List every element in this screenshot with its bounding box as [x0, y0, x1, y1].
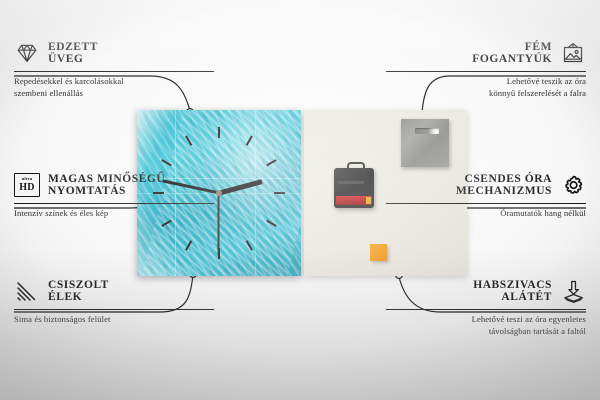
feature-title-line1: HABSZIVACS	[473, 279, 552, 291]
feature-desc-line1: Sima és biztonságos felület	[14, 314, 214, 326]
clock-tick	[218, 127, 220, 193]
badge-big-text: HD	[19, 183, 34, 193]
feature-title-line1: EDZETT	[48, 41, 98, 53]
diagonal-lines-icon	[14, 278, 40, 304]
feature-header: CSENDES ÓRA MECHANIZMUS	[386, 172, 586, 198]
divider	[14, 203, 214, 204]
mechanism-hanging-loop	[347, 162, 365, 173]
feature-foam-pad: HABSZIVACS ALÁTÉT Lehetővé teszi az óra …	[386, 278, 586, 337]
ultra-hd-badge: ultra HD	[14, 173, 40, 197]
ultra-hd-icon: ultra HD	[14, 172, 40, 198]
divider	[14, 309, 214, 310]
feature-silent-mechanism: CSENDES ÓRA MECHANIZMUS Óramutatók hang …	[386, 172, 586, 220]
diamond-icon	[14, 40, 40, 66]
feature-title-line2: FOGANTYÚK	[472, 53, 552, 65]
feature-high-quality-print: ultra HD MAGAS MINŐSÉGŰ NYOMTATÁS Intenz…	[14, 172, 214, 220]
feature-title: MAGAS MINŐSÉGŰ NYOMTATÁS	[48, 173, 165, 197]
divider	[386, 309, 586, 310]
feature-desc-line2: távolságban tartását a faltól	[386, 326, 586, 338]
feature-header: EDZETT ÜVEG	[14, 40, 214, 66]
feature-desc-line1: Lehetővé teszik az óra	[386, 76, 586, 88]
feature-desc-line2: szembeni ellenállás	[14, 88, 214, 100]
feature-desc-line1: Intenzív színek és éles kép	[14, 208, 214, 220]
battery	[336, 196, 372, 205]
feature-title-line2: MECHANIZMUS	[456, 185, 552, 197]
feature-description: Repedésekkel és karcolásokkal szembeni e…	[14, 76, 214, 99]
feature-desc-line2: könnyű felszerelését a falra	[386, 88, 586, 100]
feature-metal-handles: FÉM FOGANTYÚK Lehetővé teszik az óra kön…	[386, 40, 586, 99]
feature-title-line1: MAGAS MINŐSÉGŰ	[48, 173, 165, 185]
feature-header: HABSZIVACS ALÁTÉT	[386, 278, 586, 304]
feature-title: CSENDES ÓRA MECHANIZMUS	[456, 173, 552, 197]
feature-description: Lehetővé teszi az óra egyenletes távolsá…	[386, 314, 586, 337]
feature-header: CSISZOLT ÉLEK	[14, 278, 214, 304]
clock-mechanism-box	[334, 168, 374, 208]
clock-center-hub	[216, 190, 222, 196]
divider	[14, 71, 214, 72]
feature-title: HABSZIVACS ALÁTÉT	[473, 279, 552, 303]
divider	[386, 203, 586, 204]
feature-title-line2: NYOMTATÁS	[48, 185, 165, 197]
feature-title: FÉM FOGANTYÚK	[472, 41, 552, 65]
mechanism-ridge	[338, 181, 364, 184]
feature-title-line2: ALÁTÉT	[473, 291, 552, 303]
feature-title-line2: ÉLEK	[48, 291, 109, 303]
gear-icon	[560, 172, 586, 198]
product-feature-infographic: EDZETT ÜVEG Repedésekkel és karcolásokka…	[0, 0, 600, 400]
feature-title-line1: FÉM	[472, 41, 552, 53]
divider	[386, 71, 586, 72]
feature-description: Intenzív színek és éles kép	[14, 208, 214, 220]
feature-header: ultra HD MAGAS MINŐSÉGŰ NYOMTATÁS	[14, 172, 214, 198]
hanger-slot	[415, 128, 439, 134]
feature-header: FÉM FOGANTYÚK	[386, 40, 586, 66]
picture-hanger-icon	[560, 40, 586, 66]
feature-polished-edges: CSISZOLT ÉLEK Sima és biztonságos felüle…	[14, 278, 214, 326]
feature-description: Sima és biztonságos felület	[14, 314, 214, 326]
feature-description: Óramutatók hang nélkül	[386, 208, 586, 220]
feature-description: Lehetővé teszik az óra könnyű felszerelé…	[386, 76, 586, 99]
feature-title: EDZETT ÜVEG	[48, 41, 98, 65]
feature-desc-line1: Lehetővé teszi az óra egyenletes	[386, 314, 586, 326]
feature-title: CSISZOLT ÉLEK	[48, 279, 109, 303]
feature-tempered-glass: EDZETT ÜVEG Repedésekkel és karcolásokka…	[14, 40, 214, 99]
feature-title-line1: CSENDES ÓRA	[456, 173, 552, 185]
feature-desc-line1: Óramutatók hang nélkül	[386, 208, 586, 220]
feature-desc-line1: Repedésekkel és karcolásokkal	[14, 76, 214, 88]
foam-pad	[370, 244, 387, 261]
press-down-pad-icon	[560, 278, 586, 304]
feature-title-line1: CSISZOLT	[48, 279, 109, 291]
metal-hanger-plate	[401, 119, 449, 167]
feature-title-line2: ÜVEG	[48, 53, 98, 65]
